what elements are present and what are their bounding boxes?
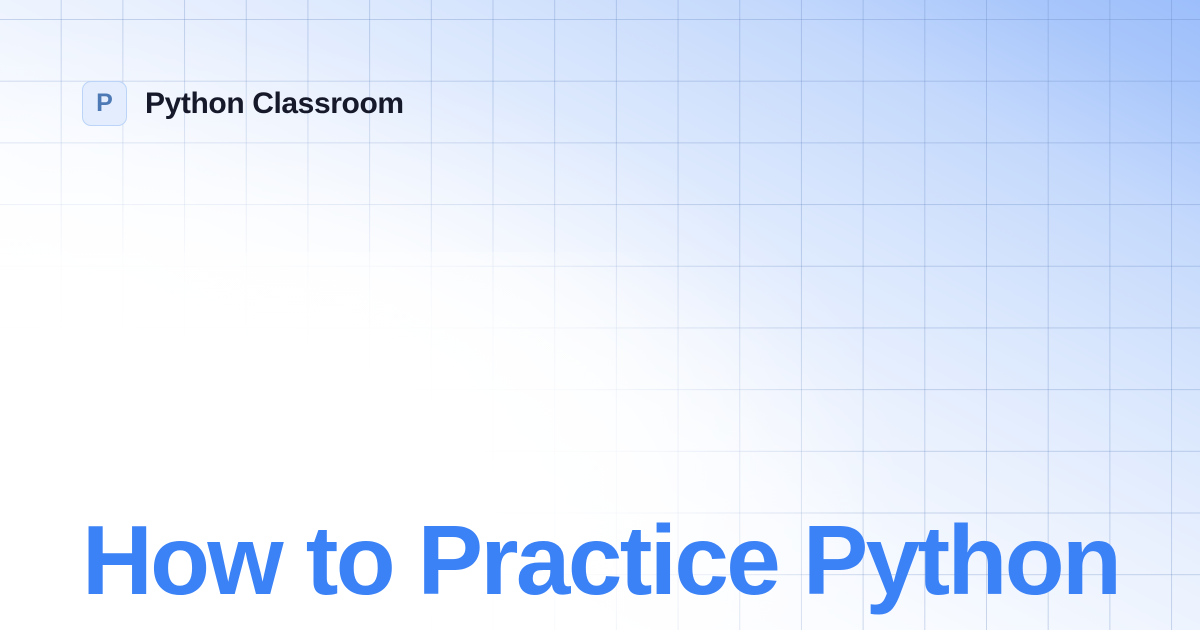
brand-badge-letter: P (96, 91, 113, 116)
og-card: P Python Classroom How to Practice Pytho… (0, 0, 1200, 630)
python-logo-badge: P (82, 81, 127, 126)
brand-lockup[interactable]: P Python Classroom (82, 81, 404, 126)
page-title: How to Practice Python (82, 509, 1130, 613)
brand-name: Python Classroom (145, 89, 404, 119)
card-content: P Python Classroom How to Practice Pytho… (0, 0, 1200, 630)
